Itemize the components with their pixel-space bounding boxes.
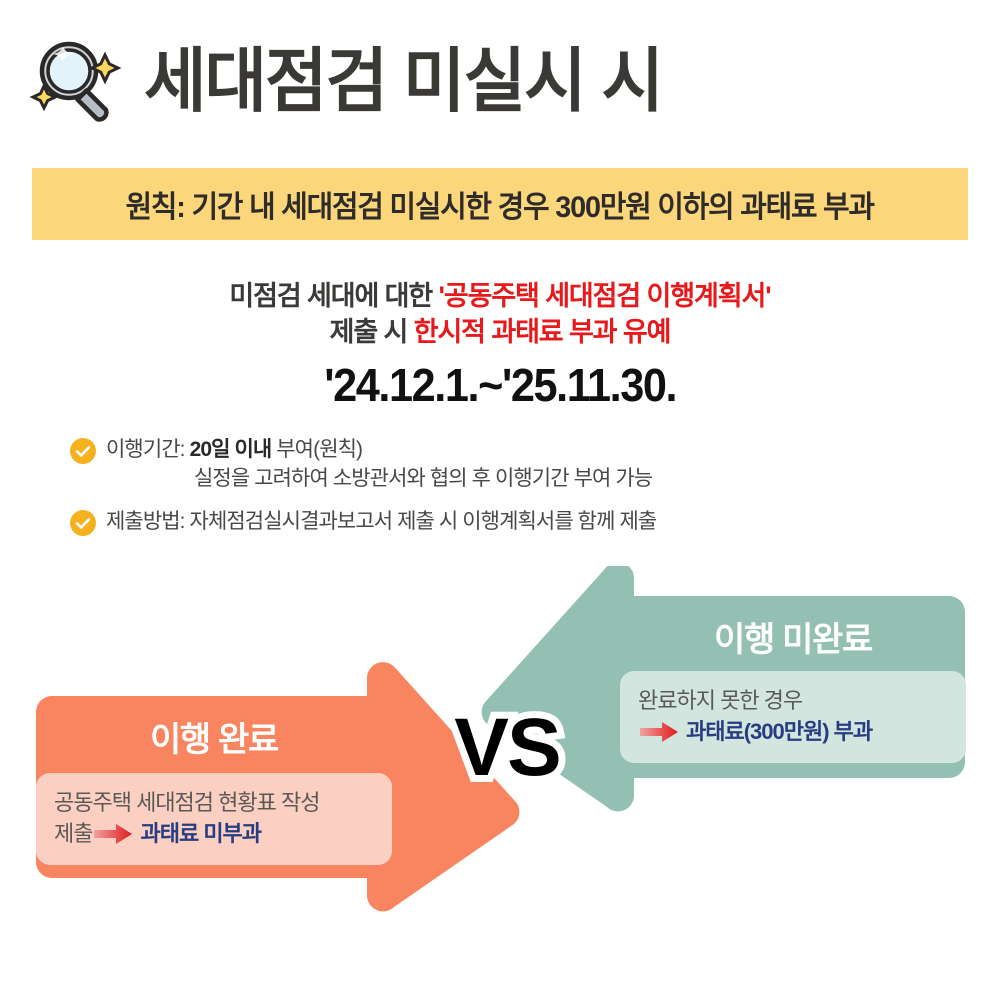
bullet-main-2: 제출방법: 자체점검실시결과보고서 제출 시 이행계획서를 함께 제출 (106, 508, 950, 536)
panel-incomplete-line-1: 완료하지 못한 경우 (638, 685, 948, 716)
magnifier-icon (28, 30, 130, 132)
bullet-body: 이행기간: 20일 이내 부여(원칙) 실정을 고려하여 소방관서와 협의 후 … (106, 436, 950, 494)
panel-completed-line-1: 공동주택 세대점검 현황표 작성 (54, 787, 374, 818)
check-circle-icon (70, 438, 96, 464)
bullet-tail-1: 부여(원칙) (271, 438, 362, 461)
list-item: 이행기간: 20일 이내 부여(원칙) 실정을 고려하여 소방관서와 협의 후 … (70, 436, 950, 494)
panel-incomplete-emphasis: 과태료(300만원) 부과 (686, 716, 872, 747)
panel-completed-emphasis: 과태료 미부과 (140, 818, 261, 849)
red-arrow-icon (640, 722, 678, 742)
panel-completed-box: 공동주택 세대점검 현황표 작성 제출 과태료 미부과 (36, 773, 392, 865)
bullet-list: 이행기간: 20일 이내 부여(원칙) 실정을 고려하여 소방관서와 협의 후 … (70, 436, 950, 550)
principle-banner: 원칙: 기간 내 세대점검 미실시한 경우 300만원 이하의 과태료 부과 (32, 168, 968, 240)
bullet-label-1: 이행기간: (106, 438, 190, 461)
date-range-wrapper: '24.12.1.~'25.11.30. (0, 350, 1000, 412)
bullet-main-1: 이행기간: 20일 이내 부여(원칙) (106, 436, 950, 464)
panel-completed-title: 이행 완료 (36, 712, 392, 761)
intro-line-1: 미점검 세대에 대한 '공동주택 세대점검 이행계획서' (0, 278, 1000, 314)
date-range: '24.12.1.~'25.11.30. (324, 358, 676, 412)
principle-banner-text: 원칙: 기간 내 세대점검 미실시한 경우 300만원 이하의 과태료 부과 (126, 182, 874, 226)
panel-incomplete: 이행 미완료 완료하지 못한 경우 과태료(300만원) 부과 (620, 612, 966, 763)
page-title: 세대점검 미실시 시 (144, 46, 662, 116)
infographic-canvas: 세대점검 미실시 시 원칙: 기간 내 세대점검 미실시한 경우 300만원 이… (0, 0, 1000, 1000)
panel-completed-line-2-prefix: 제출 (54, 818, 92, 849)
intro-line-1-text: 미점검 세대에 대한 (229, 281, 438, 311)
panel-incomplete-line-2: 과태료(300만원) 부과 (638, 716, 948, 747)
list-item: 제출방법: 자체점검실시결과보고서 제출 시 이행계획서를 함께 제출 (70, 508, 950, 536)
intro-line-1-highlight: '공동주택 세대점검 이행계획서' (439, 281, 771, 311)
bullet-strong-1: 20일 이내 (190, 438, 272, 461)
check-circle-icon (70, 510, 96, 536)
intro-block: 미점검 세대에 대한 '공동주택 세대점검 이행계획서' 제출 시 한시적 과태… (0, 278, 1000, 412)
bullet-body: 제출방법: 자체점검실시결과보고서 제출 시 이행계획서를 함께 제출 (106, 508, 950, 536)
panel-incomplete-title: 이행 미완료 (620, 612, 966, 661)
comparison-section: 이행 완료 공동주택 세대점검 현황표 작성 제출 과태료 미 (0, 566, 1000, 1000)
panel-incomplete-box: 완료하지 못한 경우 과태료(300만원) 부과 (620, 671, 966, 763)
intro-line-2-highlight: 한시적 과태료 부과 유예 (414, 317, 671, 347)
intro-line-2-text: 제출 시 (330, 317, 414, 347)
panel-completed-line-2: 제출 과태료 미부과 (54, 818, 374, 849)
bullet-sub-1: 실정을 고려하여 소방관서와 협의 후 이행기간 부여 가능 (106, 464, 950, 493)
red-arrow-icon (94, 824, 132, 844)
panel-completed: 이행 완료 공동주택 세대점검 현황표 작성 제출 과태료 미 (36, 712, 392, 865)
page-header: 세대점검 미실시 시 (28, 26, 928, 136)
intro-line-2: 제출 시 한시적 과태료 부과 유예 (0, 314, 1000, 350)
